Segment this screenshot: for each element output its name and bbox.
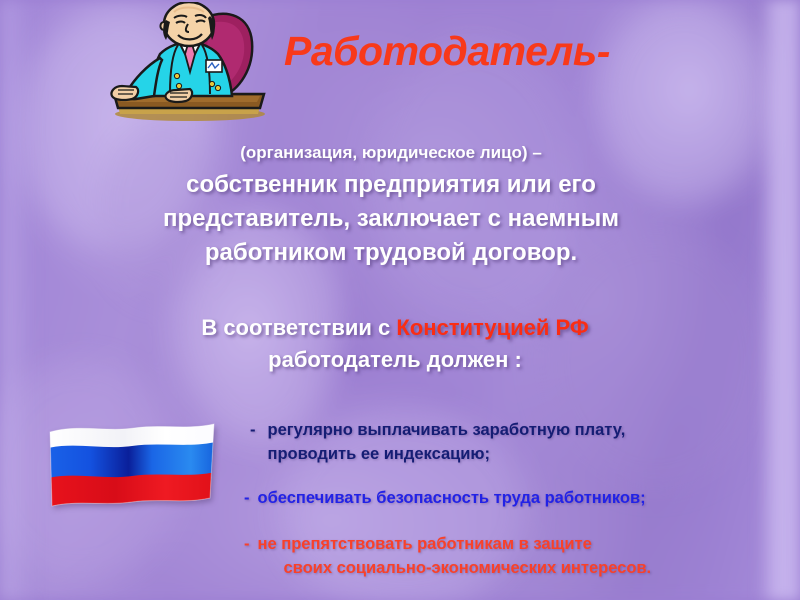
definition-line-2: представитель, заключает с наемным [96, 202, 686, 236]
constitution-highlight: Конституцией РФ [396, 315, 588, 340]
definition-line-1: собственник предприятия или его [96, 168, 686, 202]
constitution-line-1: В соответствии с Конституцией РФ [110, 312, 680, 344]
definition-line-3: работником трудовой договор. [96, 236, 686, 270]
obligations-list: - регулярно выплачивать заработную плату… [250, 418, 795, 580]
list-item: - регулярно выплачивать заработную плату… [250, 418, 795, 466]
constitution-prefix: В соответствии с [201, 315, 396, 340]
constitution-block: В соответствии с Конституцией РФ работод… [110, 312, 680, 376]
obligation-line-1: не препятствовать работникам в защите [258, 535, 592, 553]
obligation-line-2: проводить ее индексацию; [268, 442, 796, 466]
background-left-band [0, 0, 36, 600]
russian-flag-icon [48, 420, 216, 512]
businessman-clipart [100, 2, 280, 130]
list-item: - не препятствовать работникам в защите … [244, 532, 795, 580]
obligation-line-1: регулярно выплачивать заработную плату, [268, 421, 626, 439]
presentation-slide: Работодатель- (организация, юридическое … [0, 0, 800, 600]
bullet-dash: - [250, 418, 256, 442]
obligation-line-2: своих социально-экономических интересов. [258, 556, 796, 580]
obligation-text: не препятствовать работникам в защите св… [258, 532, 796, 580]
bullet-dash: - [244, 532, 250, 556]
obligation-text: обеспечивать безопасность труда работник… [258, 486, 796, 510]
definition-lead: (организация, юридическое лицо) – [96, 142, 686, 164]
obligation-line-1: обеспечивать безопасность труда работник… [258, 489, 646, 507]
list-item: - обеспечивать безопасность труда работн… [244, 486, 795, 510]
obligation-text: регулярно выплачивать заработную плату, … [264, 418, 796, 466]
constitution-line-2: работодатель должен : [110, 344, 680, 376]
bullet-dash: - [244, 486, 250, 510]
definition-block: (организация, юридическое лицо) – собств… [96, 142, 686, 270]
slide-title: Работодатель- [284, 28, 644, 75]
